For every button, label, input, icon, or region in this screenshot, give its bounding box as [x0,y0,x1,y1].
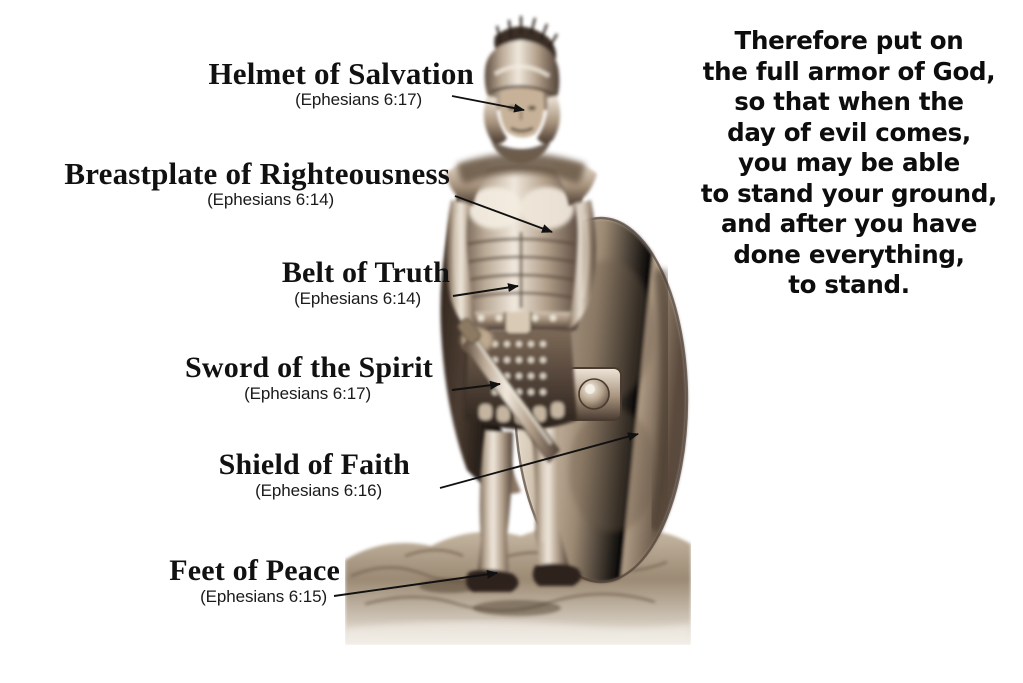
label-reference: (Ephesians 6:14) [64,191,334,209]
label-sword-of-the-spirit: Sword of the Spirit (Ephesians 6:17) [185,353,433,402]
label-shield-of-faith: Shield of Faith (Ephesians 6:16) [219,450,410,499]
label-title: Feet of Peace [169,556,340,587]
label-title: Sword of the Spirit [185,353,433,384]
label-breastplate-of-righteousness: Breastplate of Righteousness (Ephesians … [64,158,450,208]
scripture-quote: Therefore put on the full armor of God, … [688,26,1010,301]
label-reference: (Ephesians 6:14) [282,290,421,308]
scripture-line: to stand your ground, [688,179,1010,210]
diagram-canvas: Helmet of Salvation (Ephesians 6:17) Bre… [0,0,1023,683]
scripture-line: and after you have [688,209,1010,240]
label-reference: (Ephesians 6:17) [208,91,422,109]
plumed-helmet [484,16,560,164]
scripture-line: done everything, [688,240,1010,271]
label-reference: (Ephesians 6:16) [219,482,382,500]
scripture-line: so that when the [688,87,1010,118]
scripture-line: you may be able [688,148,1010,179]
label-helmet-of-salvation: Helmet of Salvation (Ephesians 6:17) [208,58,474,108]
scripture-line: day of evil comes, [688,118,1010,149]
label-title: Helmet of Salvation [208,58,474,90]
label-belt-of-truth: Belt of Truth (Ephesians 6:14) [282,258,450,307]
label-title: Shield of Faith [219,450,410,481]
scripture-line: Therefore put on [688,26,1010,57]
scripture-line: to stand. [688,270,1010,301]
label-feet-of-peace: Feet of Peace (Ephesians 6:15) [169,556,340,605]
label-title: Belt of Truth [282,258,450,289]
label-title: Breastplate of Righteousness [64,158,450,190]
scripture-line: the full armor of God, [688,57,1010,88]
label-reference: (Ephesians 6:15) [169,588,327,606]
face [500,88,544,138]
label-reference: (Ephesians 6:17) [185,385,371,403]
